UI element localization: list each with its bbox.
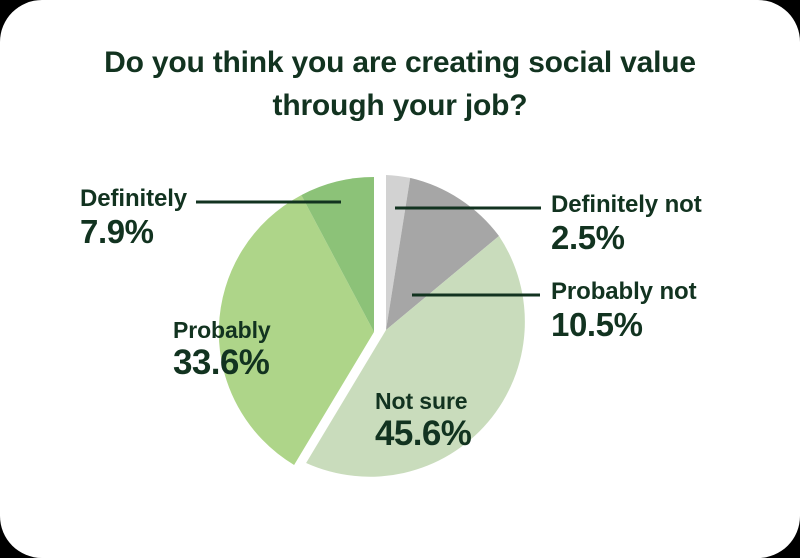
slice-label-not-sure-value: 45.6% [375,414,471,455]
callout-definitely: Definitely 7.9% [80,186,187,252]
callout-probably-not-category: Probably not [551,279,696,306]
callout-definitely-value: 7.9% [80,213,187,252]
slice-label-probably-value: 33.6% [173,343,271,384]
slice-label-not-sure: Not sure 45.6% [375,389,471,455]
callout-definitely-not: Definitely not 2.5% [551,192,702,258]
callout-definitely-category: Definitely [80,186,187,213]
callout-probably-not: Probably not 10.5% [551,279,696,345]
slice-label-probably-category: Probably [173,318,271,343]
callout-probably-not-value: 10.5% [551,306,696,345]
callout-definitely-not-category: Definitely not [551,192,702,219]
screenshot-root: Do you think you are creating social val… [0,0,800,558]
slice-label-probably: Probably 33.6% [173,318,271,384]
slice-label-not-sure-category: Not sure [375,389,471,414]
callout-definitely-not-value: 2.5% [551,219,702,258]
chart-card: Do you think you are creating social val… [0,0,800,558]
